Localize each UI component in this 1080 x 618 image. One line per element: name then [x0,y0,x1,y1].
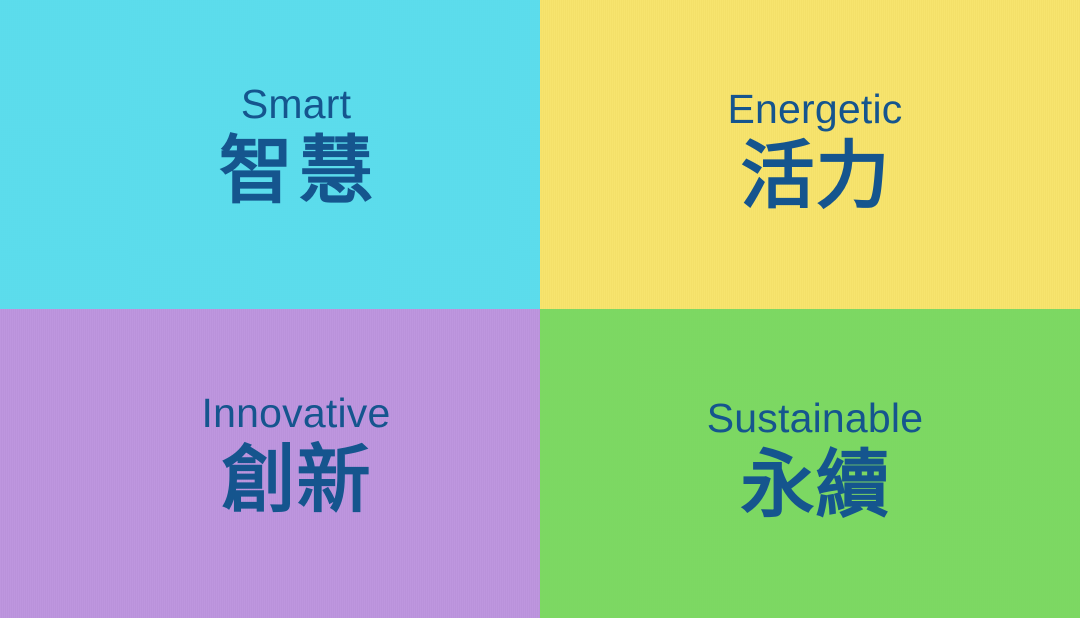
value-card-smart: Smart 智慧 [0,0,540,309]
values-grid: Smart 智慧 Energetic 活力 Innovative 創新 Sust… [0,0,1080,618]
value-label-en-energetic: Energetic [727,89,902,130]
value-card-energetic-content: Energetic 活力 [545,0,1080,305]
value-label-zh-smart: 智慧 [213,134,379,208]
value-label-en-smart: Smart [241,84,351,125]
value-card-sustainable: Sustainable 永續 [540,309,1080,618]
value-card-innovative: Innovative 創新 [0,309,540,618]
value-card-innovative-content: Innovative 創新 [26,309,540,609]
value-card-sustainable-content: Sustainable 永續 [545,309,1080,614]
value-label-zh-sustainable: 永續 [740,448,891,522]
value-card-smart-content: Smart 智慧 [26,0,540,300]
value-card-energetic: Energetic 活力 [540,0,1080,309]
brand-values-poster: Smart 智慧 Energetic 活力 Innovative 創新 Sust… [0,0,1080,618]
value-label-en-innovative: Innovative [202,393,391,434]
value-label-zh-innovative: 創新 [221,443,372,517]
value-label-en-sustainable: Sustainable [707,398,923,439]
value-label-zh-energetic: 活力 [740,139,891,213]
